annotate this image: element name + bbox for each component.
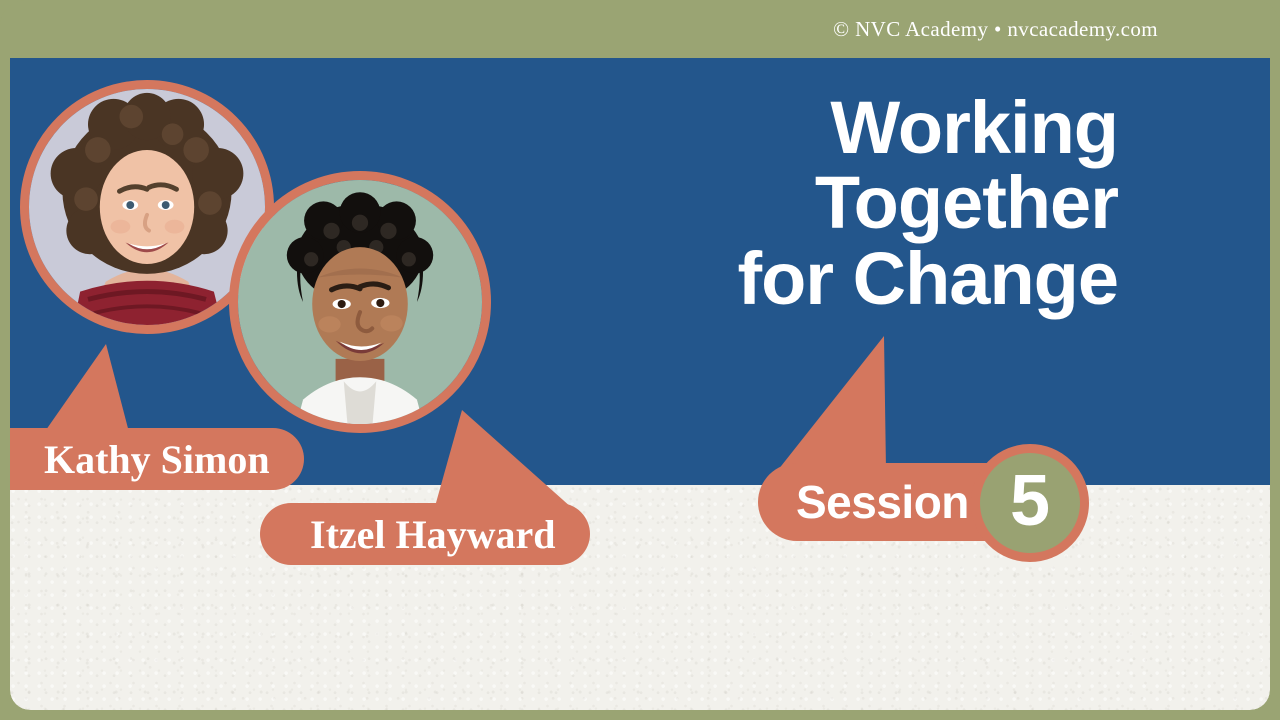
copyright-credit-text: © NVC Academy • nvcacademy.com: [833, 17, 1158, 42]
presenter-name-label: Kathy Simon: [44, 436, 270, 483]
portrait-photo-icon: [238, 180, 482, 424]
presentation-slide: © NVC Academy • nvcacademy.com Working T…: [0, 0, 1280, 720]
presenter-name-pill-itzel-hayward: Itzel Hayward: [260, 503, 590, 565]
session-number-circle: 5: [971, 444, 1089, 562]
presenter-name-pill-kathy-simon: Kathy Simon: [10, 428, 304, 490]
presenter-name-label: Itzel Hayward: [310, 511, 556, 558]
presenter-portrait-itzel-hayward: [229, 171, 491, 433]
title-line-2: Together: [438, 165, 1118, 240]
slide-card: Working Together for Change: [10, 58, 1270, 710]
title-line-1: Working: [438, 90, 1118, 165]
title-line-3: for Change: [438, 241, 1118, 316]
slide-title: Working Together for Change: [438, 90, 1118, 316]
credit-bar: © NVC Academy • nvcacademy.com: [0, 0, 1280, 58]
session-number: 5: [1010, 465, 1050, 537]
session-label: Session: [796, 475, 969, 529]
